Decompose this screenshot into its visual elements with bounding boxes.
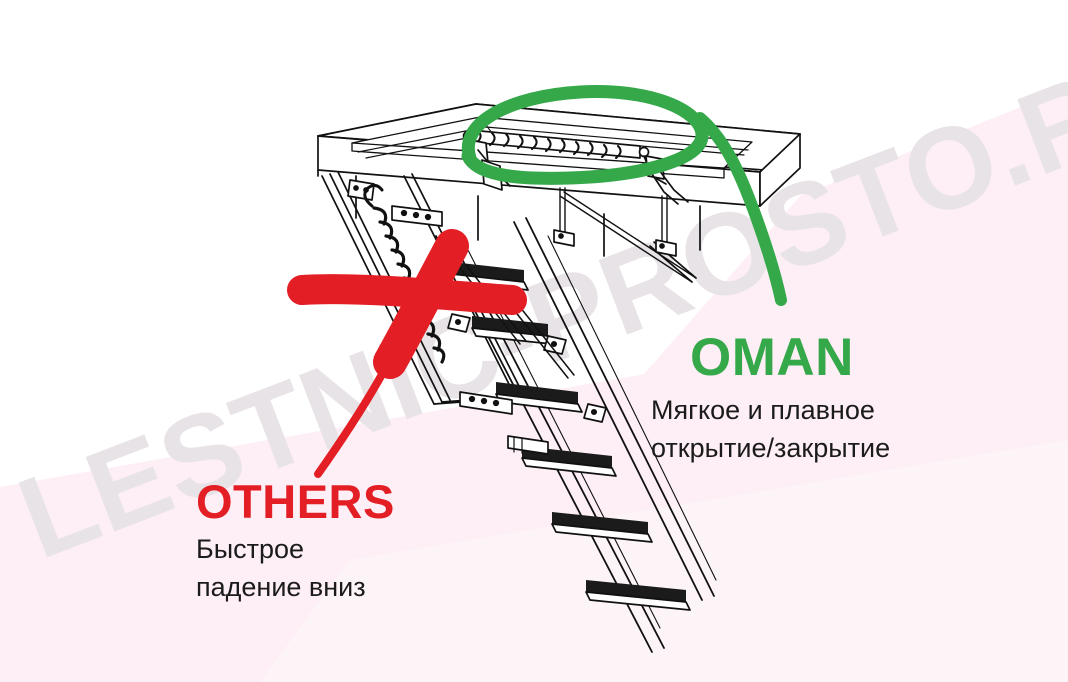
red-arrow-tail-icon [318, 356, 392, 474]
oman-subtitle-line2: открытие/закрытие [651, 435, 890, 462]
others-subtitle-line2: падение вниз [196, 574, 366, 601]
oman-title: OMAN [690, 331, 854, 384]
oman-subtitle-line1: Мягкое и плавное [651, 397, 875, 424]
red-cross-marker [0, 0, 1068, 682]
red-cross-stroke-b [302, 289, 512, 300]
others-subtitle-line1: Быстрое [196, 536, 304, 563]
others-title: OTHERS [196, 478, 395, 525]
infographic-canvas: LESTNIC-PROSTO.RU [0, 0, 1068, 682]
